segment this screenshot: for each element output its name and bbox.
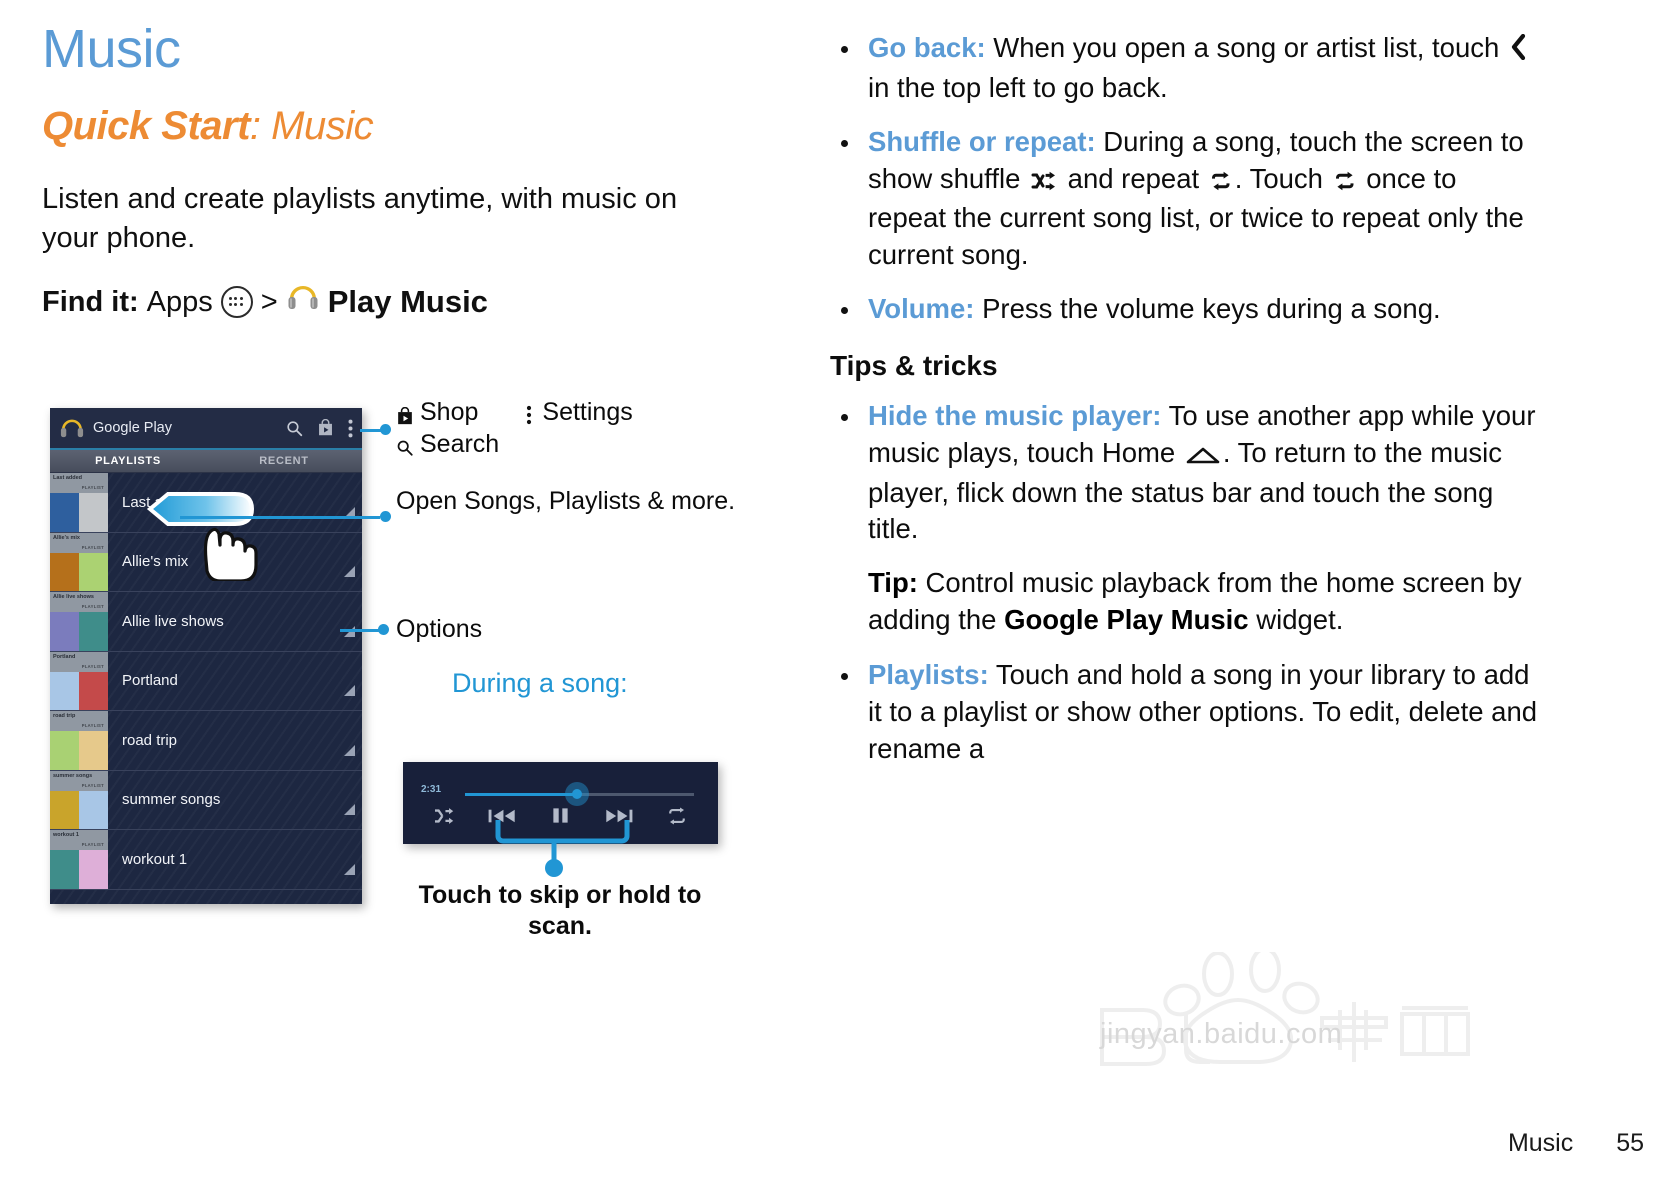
section-subtitle: Quick Start: Music [42, 106, 802, 146]
page-title: Music [42, 22, 802, 76]
thumbnail-label: Allie's mixPLAYLIST [50, 533, 108, 553]
find-it-target: Play Music [328, 282, 488, 322]
tab-recent[interactable]: RECENT [206, 455, 362, 467]
thumbnail-label: workout 1PLAYLIST [50, 830, 108, 850]
shuffle-icon [1031, 164, 1057, 201]
playlist-title: Allie live shows [108, 592, 336, 651]
headphones-icon [286, 283, 320, 322]
callout-options: Options [396, 615, 482, 645]
playlist-row[interactable]: road tripPLAYLISTroad trip [50, 711, 362, 771]
playlist-thumbnail: PortlandPLAYLIST [50, 652, 108, 711]
playlist-options-icon[interactable] [336, 771, 362, 830]
playlist-options-icon[interactable] [336, 592, 362, 651]
thumbnail-colors [50, 612, 108, 651]
playlist-row[interactable]: Allie's mixPLAYLISTAllie's mix [50, 533, 362, 593]
callout-settings-label: Settings [542, 398, 632, 428]
thumbnail-label: road tripPLAYLIST [50, 711, 108, 731]
search-icon[interactable] [286, 420, 303, 437]
thumbnail-sublabel: PLAYLIST [82, 486, 104, 491]
thumbnail-colors [50, 493, 108, 532]
leader-line-options [340, 629, 380, 632]
thumbnail-colors [50, 791, 108, 830]
playlist-list: Last addedPLAYLISTLast addedAllie's mixP… [50, 473, 362, 890]
corner-triangle-icon [344, 685, 355, 696]
playlist-row[interactable]: Allie live showsPLAYLISTAllie live shows [50, 592, 362, 652]
playlist-thumbnail: Allie live showsPLAYLIST [50, 592, 108, 651]
playlist-title: workout 1 [108, 830, 336, 889]
player-progress-fill [465, 793, 577, 796]
corner-triangle-icon [344, 864, 355, 875]
tip-body-2: widget. [1249, 604, 1344, 635]
playlist-title: road trip [108, 711, 336, 770]
bullet-text-shuffle-2: and repeat [1060, 163, 1207, 194]
repeat-icon [1210, 164, 1232, 201]
playlists-bullet-list: Playlists: Touch and hold a song in your… [828, 657, 1538, 768]
home-icon [1186, 438, 1220, 475]
callout-search-label: Search [420, 430, 499, 460]
leader-dot-options [378, 624, 389, 635]
playlist-row[interactable]: summer songsPLAYLISTsummer songs [50, 771, 362, 831]
leader-dot-open-more [380, 511, 391, 522]
bullet-playlists: Playlists: Touch and hold a song in your… [828, 657, 1538, 768]
corner-triangle-icon [344, 804, 355, 815]
watermark-url: jingyan.baidu.com [1100, 1018, 1342, 1051]
leader-dot-topbar [380, 424, 391, 435]
bullet-head-playlists: Playlists: [868, 659, 989, 690]
corner-triangle-icon [344, 745, 355, 756]
section-subtitle-text: Quick Start: Music [42, 104, 373, 148]
shuffle-icon[interactable] [433, 807, 455, 825]
thumbnail-colors [50, 731, 108, 770]
tips-bullet-list: Hide the music player: To use another ap… [828, 398, 1538, 548]
playlist-thumbnail: road tripPLAYLIST [50, 711, 108, 770]
playlist-thumbnail: Last addedPLAYLIST [50, 473, 108, 532]
intro-paragraph: Listen and create playlists anytime, wit… [42, 180, 712, 258]
skip-caption: Touch to skip or hold to scan. [395, 880, 725, 943]
player-elapsed-time: 2:31 [421, 784, 441, 795]
bullet-head-shuffle: Shuffle or repeat: [868, 126, 1096, 157]
thumbnail-sublabel: PLAYLIST [82, 724, 104, 729]
bullet-head-hide-player: Hide the music player: [868, 400, 1161, 431]
corner-triangle-icon [344, 566, 355, 577]
playlist-options-icon[interactable] [336, 711, 362, 770]
footer-section-label: Music [1508, 1129, 1573, 1157]
skip-bracket [495, 820, 630, 887]
playlist-title: Portland [108, 652, 336, 711]
playlist-options-icon[interactable] [336, 473, 362, 532]
find-it-apps: Apps [147, 284, 213, 322]
bullet-head-volume: Volume: [868, 293, 974, 324]
thumbnail-colors [50, 553, 108, 592]
playlist-thumbnail: Allie's mixPLAYLIST [50, 533, 108, 592]
leader-line-topbar [360, 429, 382, 432]
repeat-icon [1334, 164, 1356, 201]
bullet-text-go-back-2: in the top left to go back. [868, 72, 1168, 103]
manual-page: Music Quick Start: Music Listen and crea… [0, 0, 1680, 1192]
playlist-options-icon[interactable] [336, 830, 362, 889]
phone-tab-bar: PLAYLISTS RECENT [50, 450, 362, 473]
playlist-thumbnail: summer songsPLAYLIST [50, 771, 108, 830]
thumbnail-sublabel: PLAYLIST [82, 665, 104, 670]
thumbnail-sublabel: PLAYLIST [82, 843, 104, 848]
playlist-title: summer songs [108, 771, 336, 830]
bullet-text-volume: Press the volume keys during a song. [974, 293, 1440, 324]
callout-open-more: Open Songs, Playlists & more. [396, 487, 736, 517]
find-it-label: Find it: [42, 284, 139, 322]
player-progress-knob[interactable] [565, 782, 589, 806]
overflow-menu-icon [526, 403, 532, 423]
tip-head: Tip: [868, 567, 918, 598]
bullet-head-go-back: Go back: [868, 32, 986, 63]
callout-shop-label: Shop [420, 398, 478, 428]
leader-line-open-more [180, 516, 380, 519]
thumbnail-sublabel: PLAYLIST [82, 784, 104, 789]
shop-bag-icon[interactable] [317, 419, 334, 437]
page-footer: Music 55 [1508, 1129, 1644, 1158]
bullet-go-back: Go back: When you open a song or artist … [828, 30, 1538, 107]
phone-screenshot: Google Play PLAYLISTS RECENT Last addedP… [50, 408, 362, 904]
tip-paragraph: Tip: Control music playback from the hom… [868, 565, 1538, 639]
bullet-hide-player: Hide the music player: To use another ap… [828, 398, 1538, 548]
app-name: Google Play [93, 420, 272, 436]
tips-section-title: Tips & tricks [830, 350, 1538, 382]
thumbnail-colors [50, 672, 108, 711]
find-it-line: Find it: Apps > Play Music [42, 282, 802, 322]
player-progress-track[interactable] [465, 793, 694, 796]
bullet-shuffle-repeat: Shuffle or repeat: During a song, touch … [828, 124, 1538, 274]
overflow-menu-icon[interactable] [348, 419, 353, 438]
thumbnail-sublabel: PLAYLIST [82, 605, 104, 610]
back-chevron-icon [1510, 33, 1526, 70]
phone-action-bar: Google Play [50, 408, 362, 450]
thumbnail-sublabel: PLAYLIST [82, 546, 104, 551]
left-column: Music Quick Start: Music Listen and crea… [42, 22, 802, 323]
find-it-separator: > [261, 284, 278, 322]
playlist-title: Allie's mix [108, 533, 336, 592]
baidu-watermark [1090, 952, 1500, 1067]
playlist-row[interactable]: workout 1PLAYLISTworkout 1 [50, 830, 362, 890]
tip-bold-widget: Google Play Music [1004, 604, 1249, 635]
footer-page-number: 55 [1616, 1129, 1644, 1157]
bullet-text-go-back-1: When you open a song or artist list, tou… [986, 32, 1507, 63]
repeat-icon[interactable] [666, 807, 688, 825]
playlist-thumbnail: workout 1PLAYLIST [50, 830, 108, 889]
thumbnail-label: Last addedPLAYLIST [50, 473, 108, 493]
bullet-volume: Volume: Press the volume keys during a s… [828, 291, 1538, 328]
thumbnail-label: summer songsPLAYLIST [50, 771, 108, 791]
during-song-label: During a song: [452, 668, 628, 699]
headphones-icon [59, 417, 85, 439]
callout-shop-settings: Shop Settings Search [396, 398, 633, 459]
tab-playlists[interactable]: PLAYLISTS [50, 455, 206, 467]
playlist-options-icon[interactable] [336, 652, 362, 711]
search-icon [396, 435, 414, 453]
thumbnail-colors [50, 850, 108, 889]
playlist-title: Last added [108, 473, 336, 532]
shop-bag-icon [396, 404, 414, 422]
apps-grid-icon [221, 286, 253, 318]
bullet-text-shuffle-3: . Touch [1235, 163, 1331, 194]
thumbnail-label: PortlandPLAYLIST [50, 652, 108, 672]
main-bullet-list: Go back: When you open a song or artist … [828, 30, 1538, 328]
playlist-options-icon[interactable] [336, 533, 362, 592]
playlist-row[interactable]: Last addedPLAYLISTLast added [50, 473, 362, 533]
right-column: Go back: When you open a song or artist … [828, 30, 1538, 785]
thumbnail-label: Allie live showsPLAYLIST [50, 592, 108, 612]
playlist-row[interactable]: PortlandPLAYLISTPortland [50, 652, 362, 712]
